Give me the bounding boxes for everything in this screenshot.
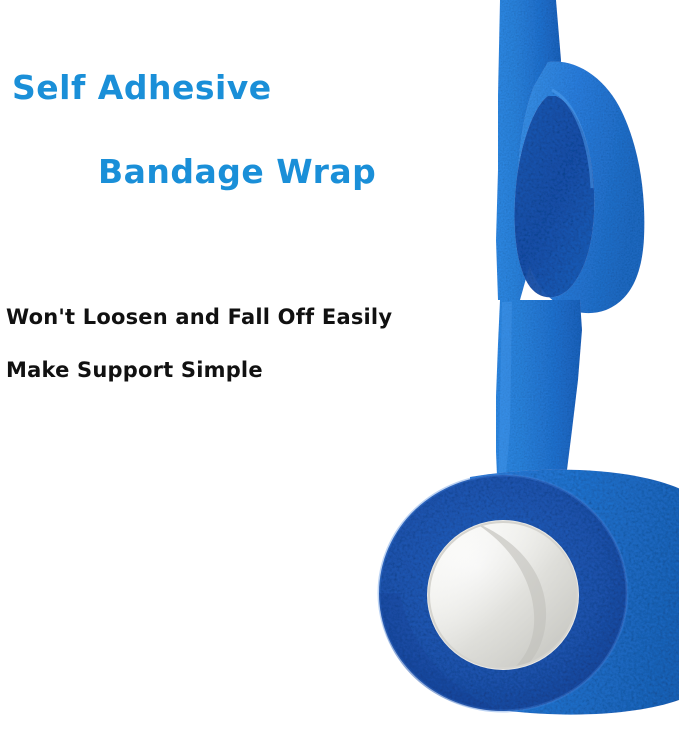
product-image-canvas: Self Adhesive Bandage Wrap Won't Loosen … <box>0 0 679 730</box>
benefit-line-1: Won't Loosen and Fall Off Easily <box>6 305 392 329</box>
headline-line-1: Self Adhesive <box>12 68 272 107</box>
headline-line-2: Bandage Wrap <box>98 152 376 191</box>
bandage-roll <box>379 470 679 715</box>
benefit-line-2: Make Support Simple <box>6 358 263 382</box>
